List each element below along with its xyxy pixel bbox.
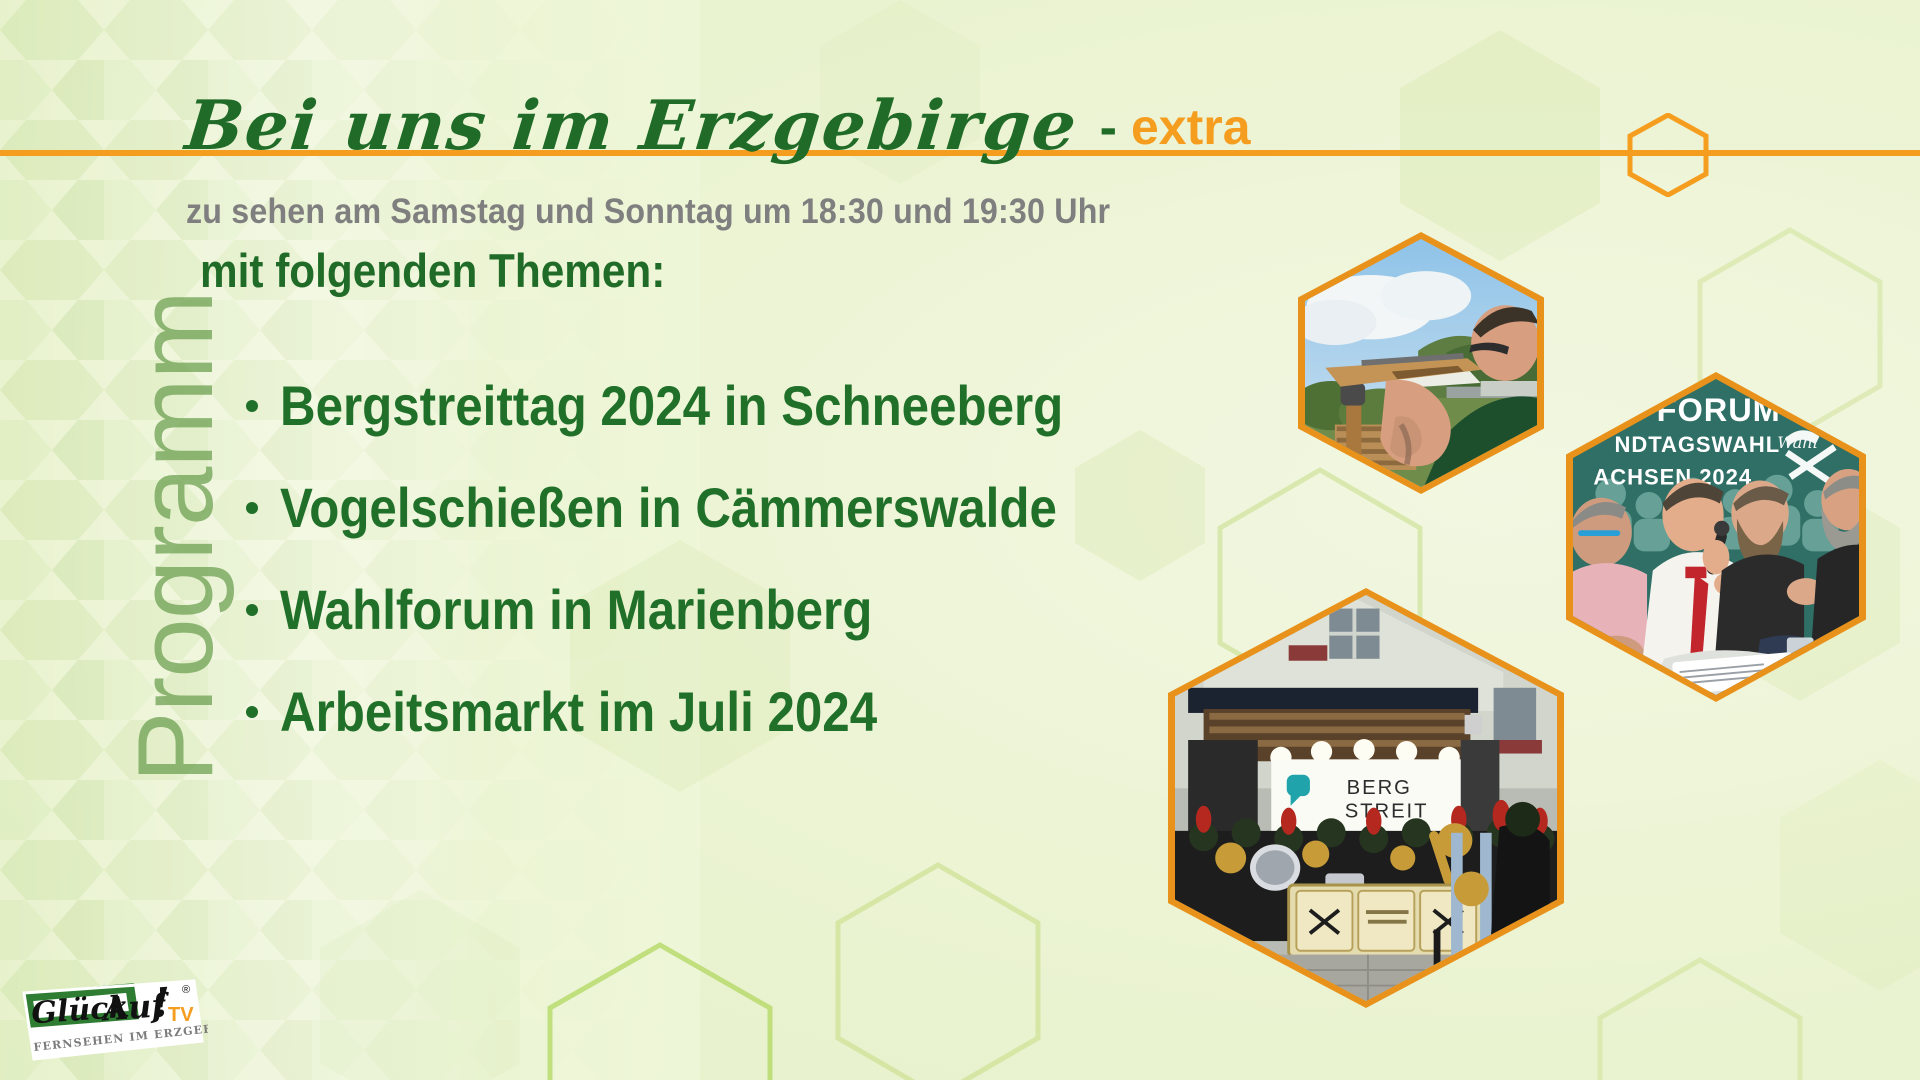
bullet-dot-icon <box>246 400 258 412</box>
stage-text-berg: BERG <box>1347 777 1412 799</box>
topic-label: Vogelschießen in Cämmerswalde <box>280 480 1057 536</box>
bullet-dot-icon <box>246 604 258 616</box>
backdrop-text-sachsen: ACHSEN 2024 <box>1593 464 1752 489</box>
photo-wahlforum: FORUM NDTAGSWAHL ACHSEN 2024 Wahl <box>1566 372 1866 702</box>
topics-list: Bergstreittag 2024 in Schneeberg Vogelsc… <box>246 355 1170 763</box>
list-item: Vogelschießen in Cämmerswalde <box>246 457 1170 559</box>
logo-tv-label: TV <box>168 1004 194 1026</box>
bullet-dot-icon <box>246 706 258 718</box>
photo-vogelschiessen <box>1298 232 1544 494</box>
channel-logo: Glück Auf ! ® TV FERNSEHEN IM ERZGEBIRGE <box>18 975 208 1067</box>
page-title-script: Bei uns im Erzgebirge <box>182 86 1082 166</box>
bullet-dot-icon <box>246 502 258 514</box>
slide-canvas: Programm Bei uns im Erzgebirge - extra z… <box>0 0 1920 1080</box>
photo-bergstreittag: BERG STREIT <box>1168 588 1564 1008</box>
list-item: Arbeitsmarkt im Juli 2024 <box>246 661 1170 763</box>
page-title: Bei uns im Erzgebirge - extra <box>186 86 1251 166</box>
topic-label: Bergstreittag 2024 in Schneeberg <box>280 378 1063 434</box>
topic-label: Wahlforum in Marienberg <box>280 582 872 638</box>
page-title-dash: - <box>1078 98 1131 158</box>
backdrop-text-landtagswahl: NDTAGSWAHL <box>1614 432 1780 457</box>
broadcast-times-subtitle: zu sehen am Samstag und Sonntag um 18:30… <box>186 192 1110 232</box>
svg-text:Wahl: Wahl <box>1777 433 1818 452</box>
logo-registered-mark: ® <box>182 984 190 996</box>
hexagon-photo-icon: FORUM NDTAGSWAHL ACHSEN 2024 Wahl <box>1573 379 1859 695</box>
page-title-accent: extra <box>1131 98 1251 156</box>
topic-label: Arbeitsmarkt im Juli 2024 <box>280 684 877 740</box>
hexagon-photo-icon: BERG STREIT <box>1175 595 1557 1001</box>
topics-intro-label: mit folgenden Themen: <box>200 243 665 298</box>
list-item: Bergstreittag 2024 in Schneeberg <box>246 355 1170 457</box>
hexagon-outline-icon <box>1626 113 1710 197</box>
list-item: Wahlforum in Marienberg <box>246 559 1170 661</box>
